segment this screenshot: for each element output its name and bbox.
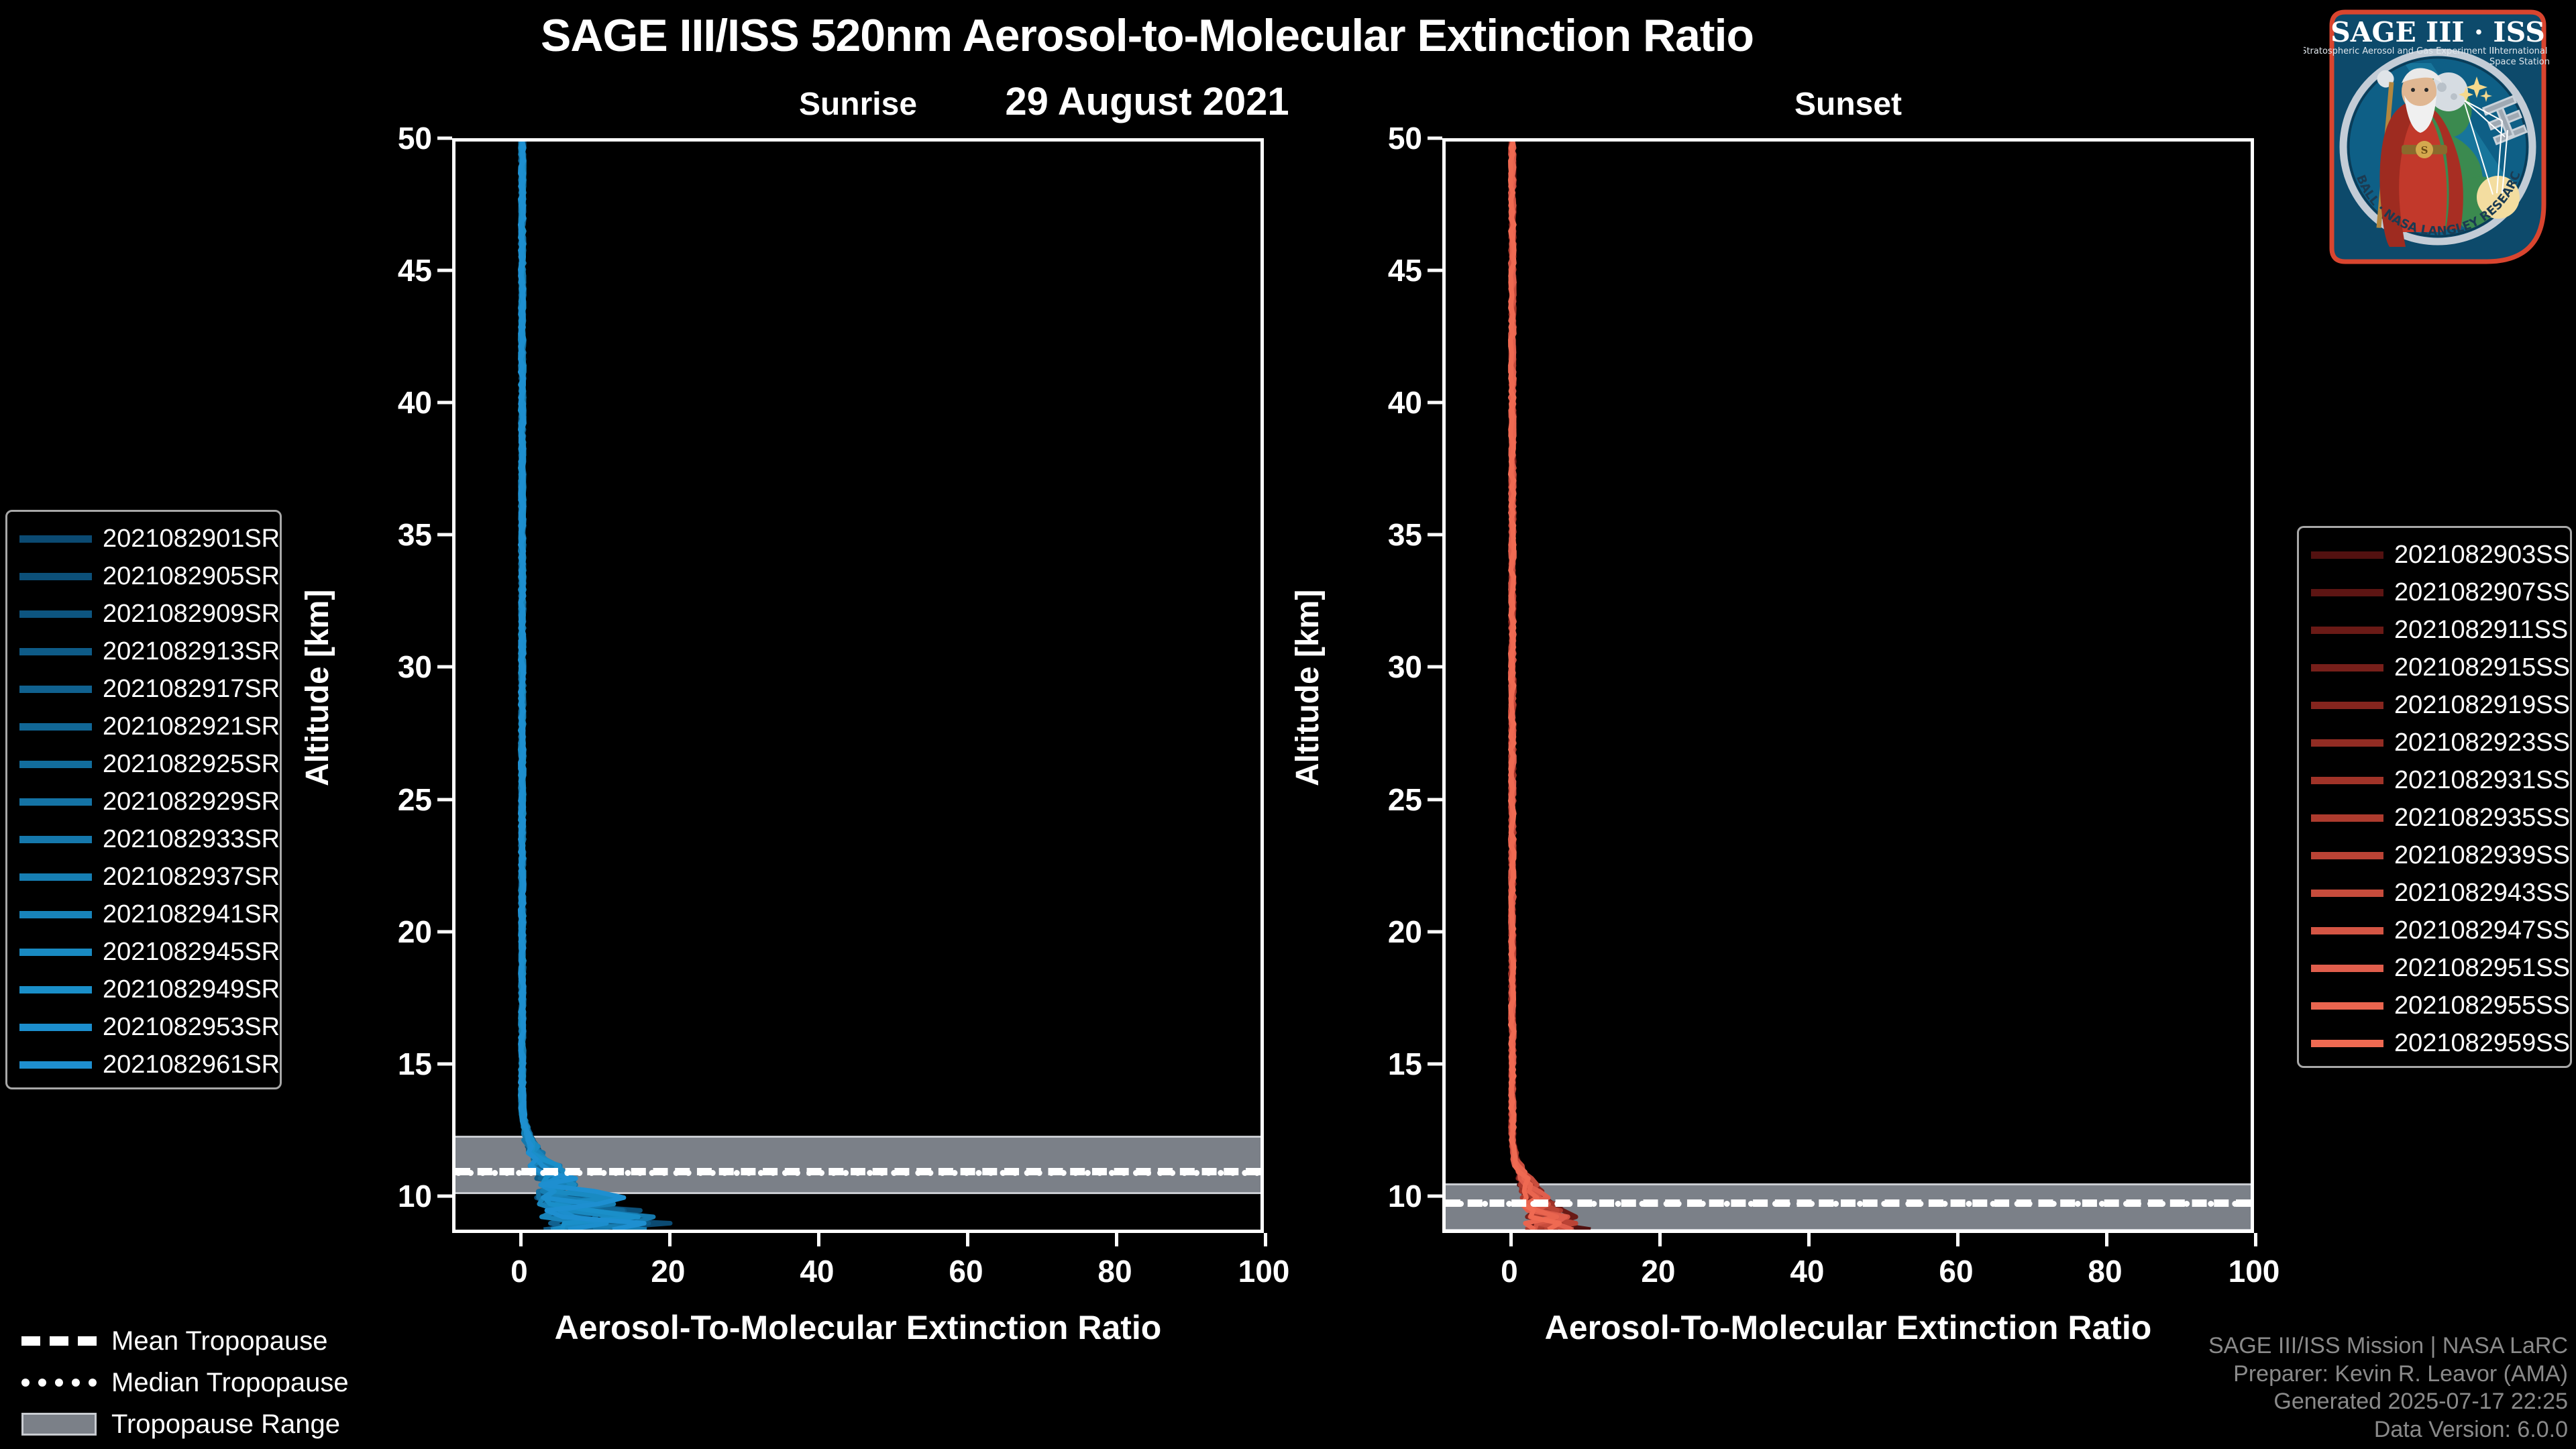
profile-trace bbox=[1510, 142, 1556, 1230]
legend-item-label: 2021082937SR bbox=[103, 863, 280, 892]
legend-color-swatch bbox=[2311, 1040, 2383, 1047]
sunrise-plot-panel bbox=[452, 138, 1264, 1233]
profile-trace bbox=[520, 142, 605, 1230]
y-tick-label: 40 bbox=[372, 384, 432, 421]
x-axis-label: Aerosol-To-Molecular Extinction Ratio bbox=[1442, 1308, 2254, 1347]
legend-item[interactable]: 2021082939SS bbox=[2299, 837, 2570, 874]
legend-item-label: 2021082917SR bbox=[103, 675, 280, 704]
legend-item-label: 2021082947SS bbox=[2394, 916, 2570, 945]
profile-trace bbox=[1510, 142, 1572, 1230]
legend-item[interactable]: 2021082903SS bbox=[2299, 536, 2570, 574]
x-tick-label: 80 bbox=[2088, 1253, 2122, 1289]
x-tick-label: 100 bbox=[1238, 1253, 1290, 1289]
profile-trace bbox=[520, 142, 670, 1230]
y-tick-label: 35 bbox=[1362, 517, 1422, 553]
profile-trace bbox=[520, 142, 591, 1230]
legend-item-label: 2021082941SR bbox=[103, 900, 280, 929]
legend-item[interactable]: 2021082911SS bbox=[2299, 611, 2570, 649]
legend-item[interactable]: 2021082905SR bbox=[7, 557, 280, 595]
legend-item-label: 2021082905SR bbox=[103, 562, 280, 591]
legend-item[interactable]: 2021082917SR bbox=[7, 670, 280, 708]
tropopause-legend: Mean TropopauseMedian TropopauseTropopau… bbox=[9, 1320, 349, 1445]
profile-trace bbox=[1510, 142, 1556, 1230]
y-tick-mark bbox=[437, 137, 452, 140]
y-tick-label: 45 bbox=[1362, 252, 1422, 288]
legend-color-swatch bbox=[19, 911, 92, 918]
legend-item-label: 2021082909SR bbox=[103, 600, 280, 629]
legend-color-swatch bbox=[2311, 739, 2383, 747]
legend-item[interactable]: 2021082901SR bbox=[7, 520, 280, 557]
legend-item-label: 2021082943SS bbox=[2394, 879, 2570, 908]
median-tropopause-line bbox=[1446, 1201, 2251, 1207]
sunset-plot-panel bbox=[1442, 138, 2254, 1233]
y-tick-mark bbox=[437, 798, 452, 801]
y-tick-mark bbox=[1428, 401, 1442, 405]
profile-trace bbox=[520, 142, 649, 1230]
x-tick-mark bbox=[817, 1233, 820, 1246]
legend-item[interactable]: 2021082913SR bbox=[7, 633, 280, 670]
tropopause-legend-swatch-band bbox=[21, 1413, 97, 1436]
legend-item[interactable]: 2021082949SR bbox=[7, 971, 280, 1008]
x-tick-mark bbox=[966, 1233, 969, 1246]
y-tick-mark bbox=[1428, 798, 1442, 801]
y-tick-label: 20 bbox=[1362, 914, 1422, 950]
legend-item-label: 2021082951SS bbox=[2394, 954, 2570, 983]
y-tick-label: 15 bbox=[1362, 1046, 1422, 1082]
logo-title: SAGE III · ISS bbox=[2330, 16, 2545, 48]
sunrise-panel-title: Sunrise bbox=[452, 86, 1264, 123]
tropopause-legend-label: Median Tropopause bbox=[111, 1368, 349, 1398]
legend-item-label: 2021082907SS bbox=[2394, 578, 2570, 607]
profile-traces bbox=[455, 142, 1260, 1230]
legend-color-swatch bbox=[19, 798, 92, 806]
x-tick-mark bbox=[1956, 1233, 1960, 1246]
profile-trace bbox=[520, 142, 623, 1230]
y-tick-mark bbox=[1428, 665, 1442, 669]
y-tick-mark bbox=[437, 401, 452, 405]
legend-item[interactable]: 2021082931SS bbox=[2299, 761, 2570, 799]
legend-item-label: 2021082933SR bbox=[103, 825, 280, 854]
profile-trace bbox=[1510, 142, 1560, 1230]
y-tick-mark bbox=[1428, 930, 1442, 933]
svg-text:S: S bbox=[2421, 144, 2428, 156]
legend-item[interactable]: 2021082933SR bbox=[7, 820, 280, 858]
x-tick-mark bbox=[668, 1233, 672, 1246]
y-tick-label: 25 bbox=[1362, 782, 1422, 818]
y-axis-label: Altitude [km] bbox=[299, 590, 336, 786]
legend-item-label: 2021082915SS bbox=[2394, 653, 2570, 682]
legend-color-swatch bbox=[2311, 890, 2383, 897]
y-tick-label: 20 bbox=[372, 914, 432, 950]
y-tick-mark bbox=[1428, 269, 1442, 272]
tropopause-legend-swatch-dotted bbox=[21, 1379, 97, 1387]
x-tick-mark bbox=[1264, 1233, 1267, 1246]
profile-trace bbox=[520, 142, 580, 1230]
legend-color-swatch bbox=[2311, 627, 2383, 634]
y-tick-label: 40 bbox=[1362, 384, 1422, 421]
logo-subtitle-left: Stratospheric Aerosol and Gas Experiment… bbox=[2304, 46, 2497, 56]
profile-trace bbox=[1510, 142, 1564, 1230]
legend-color-swatch bbox=[2311, 927, 2383, 934]
legend-color-swatch bbox=[19, 535, 92, 543]
y-tick-label: 15 bbox=[372, 1046, 432, 1082]
legend-color-swatch bbox=[19, 986, 92, 994]
legend-item[interactable]: 2021082953SR bbox=[7, 1008, 280, 1046]
y-tick-mark bbox=[1428, 137, 1442, 140]
x-tick-label: 40 bbox=[1790, 1253, 1824, 1289]
legend-color-swatch bbox=[19, 648, 92, 655]
page-title: SAGE III/ISS 520nm Aerosol-to-Molecular … bbox=[0, 9, 2294, 62]
y-tick-mark bbox=[437, 1062, 452, 1065]
credits-line: Preparer: Kevin R. Leavor (AMA) bbox=[2208, 1360, 2568, 1388]
legend-item[interactable]: 2021082909SR bbox=[7, 595, 280, 633]
y-tick-mark bbox=[437, 533, 452, 537]
profile-trace bbox=[520, 142, 601, 1230]
sunrise-legend[interactable]: 2021082901SR2021082905SR2021082909SR2021… bbox=[5, 510, 282, 1089]
profile-trace bbox=[521, 142, 653, 1230]
legend-color-swatch bbox=[2311, 589, 2383, 596]
x-axis-label: Aerosol-To-Molecular Extinction Ratio bbox=[452, 1308, 1264, 1347]
legend-item[interactable]: 2021082921SR bbox=[7, 708, 280, 745]
x-tick-label: 20 bbox=[1641, 1253, 1675, 1289]
y-tick-mark bbox=[437, 1194, 452, 1197]
y-tick-mark bbox=[1428, 1062, 1442, 1065]
y-tick-mark bbox=[1428, 1194, 1442, 1197]
x-tick-mark bbox=[1115, 1233, 1118, 1246]
x-tick-mark bbox=[1807, 1233, 1811, 1246]
tropopause-legend-item: Tropopause Range bbox=[9, 1403, 349, 1445]
legend-item-label: 2021082919SS bbox=[2394, 691, 2570, 720]
profile-trace bbox=[520, 142, 638, 1230]
legend-item[interactable]: 2021082937SR bbox=[7, 858, 280, 896]
legend-item-label: 2021082913SR bbox=[103, 637, 280, 666]
profile-trace bbox=[1510, 142, 1573, 1230]
tropopause-legend-label: Mean Tropopause bbox=[111, 1326, 327, 1356]
legend-item-label: 2021082949SR bbox=[103, 975, 280, 1004]
y-tick-mark bbox=[1428, 533, 1442, 537]
x-tick-mark bbox=[2105, 1233, 2108, 1246]
logo-subtitle-right-line1: International bbox=[2492, 46, 2548, 56]
legend-item-label: 2021082923SS bbox=[2394, 729, 2570, 757]
x-tick-label: 60 bbox=[949, 1253, 983, 1289]
legend-color-swatch bbox=[2311, 1002, 2383, 1010]
logo-subtitle-right-line2: Space Station bbox=[2489, 57, 2550, 67]
tropopause-legend-item: Mean Tropopause bbox=[9, 1320, 349, 1362]
legend-item[interactable]: 2021082941SR bbox=[7, 896, 280, 933]
x-tick-label: 100 bbox=[2229, 1253, 2280, 1289]
legend-color-swatch bbox=[19, 1024, 92, 1031]
x-tick-label: 0 bbox=[1501, 1253, 1518, 1289]
legend-color-swatch bbox=[19, 723, 92, 731]
tropopause-legend-item: Median Tropopause bbox=[9, 1362, 349, 1403]
legend-item[interactable]: 2021082955SS bbox=[2299, 987, 2570, 1024]
legend-color-swatch bbox=[2311, 777, 2383, 784]
y-tick-mark bbox=[437, 269, 452, 272]
legend-color-swatch bbox=[19, 573, 92, 580]
profile-trace bbox=[520, 142, 640, 1230]
credits-line: SAGE III/ISS Mission | NASA LaRC bbox=[2208, 1332, 2568, 1360]
x-tick-mark bbox=[1658, 1233, 1662, 1246]
legend-item-label: 2021082935SS bbox=[2394, 804, 2570, 833]
y-tick-label: 50 bbox=[1362, 120, 1422, 156]
credits-block: SAGE III/ISS Mission | NASA LaRCPreparer… bbox=[2208, 1332, 2568, 1444]
legend-item[interactable]: 2021082907SS bbox=[2299, 574, 2570, 611]
legend-color-swatch bbox=[2311, 664, 2383, 672]
y-tick-mark bbox=[437, 665, 452, 669]
legend-item[interactable]: 2021082945SR bbox=[7, 933, 280, 971]
profile-trace bbox=[520, 142, 644, 1230]
legend-color-swatch bbox=[19, 949, 92, 956]
legend-item[interactable]: 2021082961SR bbox=[7, 1046, 280, 1083]
x-tick-label: 80 bbox=[1097, 1253, 1132, 1289]
y-tick-label: 10 bbox=[372, 1178, 432, 1214]
legend-color-swatch bbox=[19, 1061, 92, 1069]
y-tick-label: 50 bbox=[372, 120, 432, 156]
x-tick-mark bbox=[1509, 1233, 1513, 1246]
y-tick-label: 35 bbox=[372, 517, 432, 553]
profile-trace bbox=[520, 142, 618, 1230]
legend-item[interactable]: 2021082915SS bbox=[2299, 649, 2570, 686]
legend-item[interactable]: 2021082943SS bbox=[2299, 874, 2570, 912]
profile-trace bbox=[1510, 142, 1559, 1230]
tropopause-legend-swatch-dashed bbox=[21, 1336, 97, 1346]
profile-trace bbox=[1510, 142, 1570, 1230]
profile-trace bbox=[520, 142, 616, 1230]
profile-trace bbox=[520, 142, 606, 1230]
sunset-panel-title: Sunset bbox=[1442, 86, 2254, 123]
legend-color-swatch bbox=[19, 836, 92, 843]
tropopause-legend-label: Tropopause Range bbox=[111, 1409, 340, 1440]
legend-item[interactable]: 2021082919SS bbox=[2299, 686, 2570, 724]
legend-color-swatch bbox=[2311, 702, 2383, 709]
legend-item[interactable]: 2021082951SS bbox=[2299, 949, 2570, 987]
x-tick-label: 20 bbox=[651, 1253, 685, 1289]
x-tick-label: 60 bbox=[1939, 1253, 1973, 1289]
legend-item-label: 2021082939SS bbox=[2394, 841, 2570, 870]
x-tick-label: 40 bbox=[800, 1253, 834, 1289]
legend-item-label: 2021082961SR bbox=[103, 1051, 280, 1079]
legend-item[interactable]: 2021082959SS bbox=[2299, 1024, 2570, 1062]
legend-color-swatch bbox=[2311, 814, 2383, 822]
median-tropopause-line bbox=[455, 1170, 1260, 1176]
legend-color-swatch bbox=[2311, 551, 2383, 559]
legend-item-label: 2021082921SR bbox=[103, 712, 280, 741]
legend-item[interactable]: 2021082929SR bbox=[7, 783, 280, 820]
legend-item-label: 2021082903SS bbox=[2394, 541, 2570, 570]
x-tick-mark bbox=[2254, 1233, 2257, 1246]
legend-item-label: 2021082931SS bbox=[2394, 766, 2570, 795]
legend-color-swatch bbox=[19, 610, 92, 618]
sage-iii-iss-logo: S BALL · NASA LANGLEY RESEARCH CENTER · … bbox=[2304, 3, 2572, 271]
x-tick-label: 0 bbox=[511, 1253, 528, 1289]
legend-item-label: 2021082901SR bbox=[103, 525, 280, 553]
legend-color-swatch bbox=[19, 873, 92, 881]
legend-item-label: 2021082959SS bbox=[2394, 1029, 2570, 1058]
profile-trace bbox=[1510, 142, 1591, 1230]
y-tick-mark bbox=[437, 930, 452, 933]
legend-item-label: 2021082955SS bbox=[2394, 991, 2570, 1020]
profile-trace bbox=[1510, 142, 1564, 1230]
legend-color-swatch bbox=[2311, 965, 2383, 972]
x-tick-mark bbox=[519, 1233, 523, 1246]
legend-color-swatch bbox=[19, 686, 92, 693]
legend-color-swatch bbox=[2311, 852, 2383, 859]
y-tick-label: 25 bbox=[372, 782, 432, 818]
credits-line: Data Version: 6.0.0 bbox=[2208, 1416, 2568, 1444]
legend-color-swatch bbox=[19, 761, 92, 768]
legend-item[interactable]: 2021082925SR bbox=[7, 745, 280, 783]
y-tick-label: 45 bbox=[372, 252, 432, 288]
legend-item-label: 2021082929SR bbox=[103, 788, 280, 816]
profile-trace bbox=[1510, 142, 1568, 1230]
sunset-legend[interactable]: 2021082903SS2021082907SS2021082911SS2021… bbox=[2297, 526, 2572, 1068]
y-tick-label: 10 bbox=[1362, 1178, 1422, 1214]
profile-trace bbox=[1510, 142, 1576, 1230]
legend-item-label: 2021082953SR bbox=[103, 1013, 280, 1042]
legend-item-label: 2021082945SR bbox=[103, 938, 280, 967]
y-tick-label: 30 bbox=[1362, 649, 1422, 685]
profile-trace bbox=[520, 142, 647, 1230]
legend-item[interactable]: 2021082935SS bbox=[2299, 799, 2570, 837]
y-tick-label: 30 bbox=[372, 649, 432, 685]
legend-item-label: 2021082925SR bbox=[103, 750, 280, 779]
legend-item[interactable]: 2021082947SS bbox=[2299, 912, 2570, 949]
profile-traces bbox=[1446, 142, 2251, 1230]
y-axis-label: Altitude [km] bbox=[1289, 590, 1326, 786]
profile-trace bbox=[1510, 142, 1576, 1230]
legend-item[interactable]: 2021082923SS bbox=[2299, 724, 2570, 761]
legend-item-label: 2021082911SS bbox=[2394, 616, 2568, 645]
credits-line: Generated 2025-07-17 22:25 bbox=[2208, 1388, 2568, 1415]
